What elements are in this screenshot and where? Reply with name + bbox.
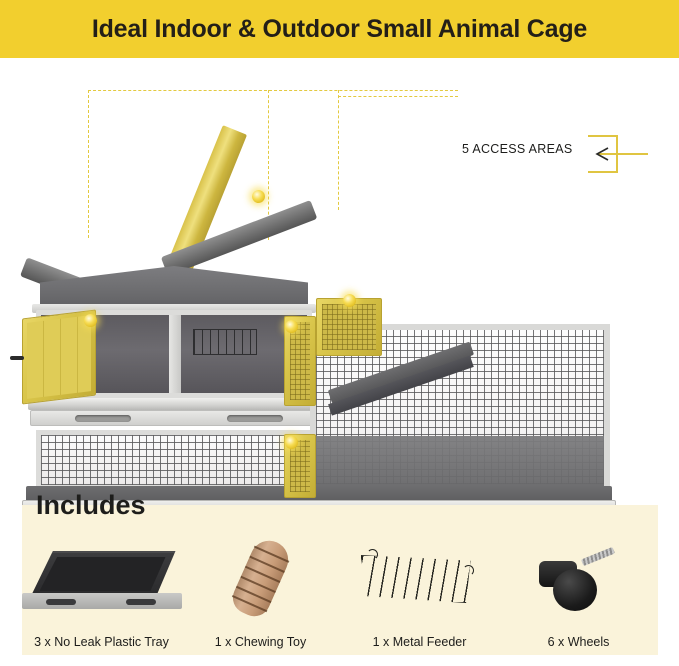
run-lower-left <box>36 430 312 490</box>
chewing-toy-icon <box>181 531 340 623</box>
tray-grip-right <box>126 599 156 605</box>
hutch-center-post <box>169 315 181 393</box>
cage-roof: Aivituvin <box>28 228 318 306</box>
includes-item: 3 x No Leak Plastic Tray <box>22 531 181 655</box>
item-caption: 1 x Chewing Toy <box>181 635 340 649</box>
includes-item-list: 3 x No Leak Plastic Tray <box>22 531 658 655</box>
tray-base-surface <box>40 557 166 591</box>
caster-wheel-icon <box>499 531 658 623</box>
access-marker-5 <box>252 190 265 203</box>
plastic-tray-icon <box>22 531 181 623</box>
tray-handle-upper-left <box>75 415 131 422</box>
door-handle-left <box>10 356 24 360</box>
wheel-tire <box>553 569 597 611</box>
item-caption: 3 x No Leak Plastic Tray <box>22 635 181 649</box>
cage-illustration: Aivituvin <box>0 168 679 503</box>
header-banner: Ideal Indoor & Outdoor Small Animal Cage <box>0 0 679 58</box>
hutch-floor-shelf <box>28 398 320 410</box>
access-marker-1 <box>84 314 97 327</box>
callout-guide-branch <box>338 96 458 97</box>
includes-item: 6 x Wheels <box>499 531 658 655</box>
tray-grip-left <box>46 599 76 605</box>
access-areas-label: 5 ACCESS AREAS <box>462 142 573 156</box>
access-marker-4 <box>285 436 298 449</box>
access-marker-3 <box>343 294 356 307</box>
feeder-hook-right <box>463 565 474 576</box>
feeder-wire-basket <box>361 555 471 603</box>
tray-handle-upper-right <box>227 415 283 422</box>
item-caption: 1 x Metal Feeder <box>340 635 499 649</box>
pullout-tray-upper <box>30 410 320 426</box>
door-mesh-surface <box>290 322 310 400</box>
includes-title: Includes <box>36 490 146 521</box>
includes-panel: Includes 3 x No Leak Plastic Tray <box>22 505 658 655</box>
feeder-hook-left <box>367 549 378 560</box>
door-plank-surface <box>27 315 91 399</box>
page-title: Ideal Indoor & Outdoor Small Animal Cage <box>92 15 587 44</box>
mounted-feeder-icon <box>193 329 257 355</box>
wheel-threaded-stem <box>580 547 614 566</box>
product-hero: 5 ACCESS AREAS Aivituvin <box>0 58 679 505</box>
item-caption: 6 x Wheels <box>499 635 658 649</box>
run-right-floor <box>316 436 604 486</box>
includes-item: 1 x Chewing Toy <box>181 531 340 655</box>
toy-body <box>227 535 293 622</box>
product-infographic: Ideal Indoor & Outdoor Small Animal Cage… <box>0 0 679 666</box>
access-marker-2 <box>285 320 298 333</box>
metal-feeder-icon <box>340 531 499 623</box>
left-arrow-icon <box>588 146 650 162</box>
callout-guide-top <box>88 90 458 91</box>
includes-item: 1 x Metal Feeder <box>340 531 499 655</box>
door-mesh-surface-side <box>322 304 376 350</box>
roof-slope-right <box>161 200 318 276</box>
